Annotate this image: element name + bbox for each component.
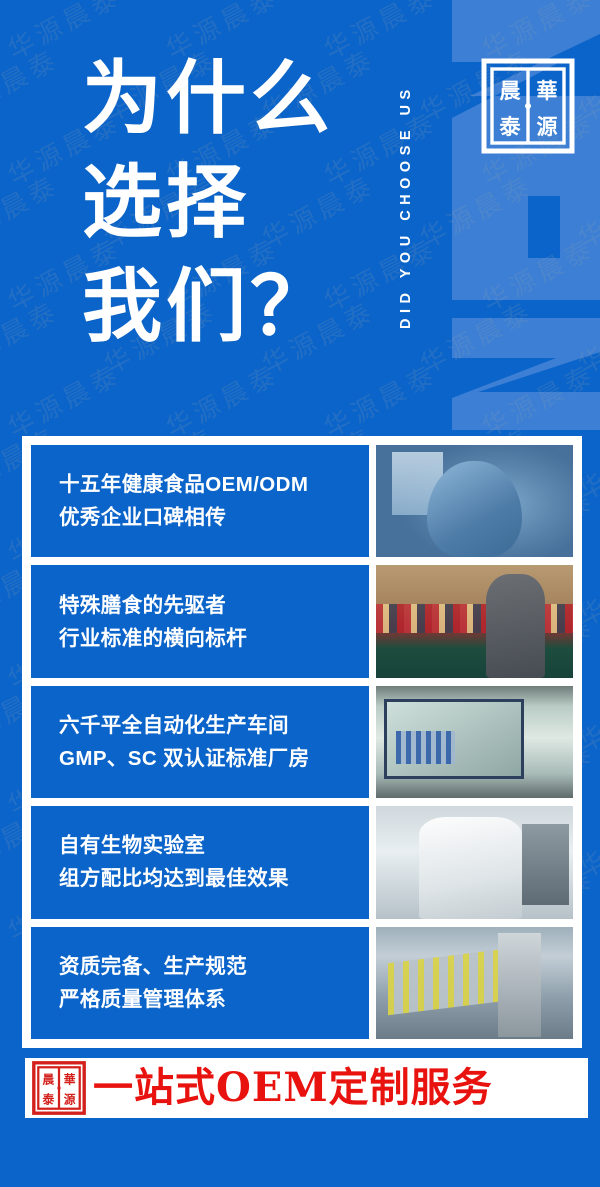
conference-audience-photo [376, 565, 573, 677]
svg-text:泰: 泰 [41, 1093, 54, 1107]
feature-card-text: 十五年健康食品OEM/ODM 优秀企业口碑相传 [31, 445, 369, 557]
seal-stamp-icon: 晨 泰 華 源 [478, 54, 578, 158]
poster-root: 为什么 选择 我们？ DID YOU CHOOSE US 晨 泰 華 源 [0, 0, 600, 1187]
feature-line-2: GMP、SC 双认证标准厂房 [59, 742, 369, 775]
svg-text:華: 華 [537, 78, 558, 103]
feature-line-2: 严格质量管理体系 [59, 983, 369, 1016]
feature-line-1: 六千平全自动化生产车间 [59, 709, 369, 742]
page-title: 为什么 选择 我们？ [82, 46, 334, 358]
feature-card-text: 六千平全自动化生产车间 GMP、SC 双认证标准厂房 [31, 686, 369, 798]
features-panel: 十五年健康食品OEM/ODM 优秀企业口碑相传 特殊膳食的先驱者 行业标准的横向… [22, 436, 582, 1048]
feature-line-2: 行业标准的横向标杆 [59, 622, 369, 655]
feature-line-1: 资质完备、生产规范 [59, 950, 369, 983]
banner-slogan: 一站式OEM定制服务 [93, 1068, 493, 1108]
title-line-2: 选择 [82, 150, 334, 254]
feature-line-1: 自有生物实验室 [59, 829, 369, 862]
feature-line-2: 优秀企业口碑相传 [59, 501, 369, 534]
tablet-packaging-machine-photo [376, 927, 573, 1039]
bottom-banner: 晨 泰 華 源 一站式OEM定制服务 [25, 1058, 588, 1118]
feature-card-text: 资质完备、生产规范 严格质量管理体系 [31, 927, 369, 1039]
feature-card: 十五年健康食品OEM/ODM 优秀企业口碑相传 [31, 445, 573, 557]
seal-stamp-icon: 晨 泰 華 源 [31, 1060, 87, 1116]
feature-card-text: 自有生物实验室 组方配比均达到最佳效果 [31, 806, 369, 918]
svg-text:源: 源 [537, 114, 558, 139]
svg-text:晨: 晨 [500, 78, 522, 103]
svg-text:晨: 晨 [42, 1073, 54, 1087]
feature-card-text: 特殊膳食的先驱者 行业标准的横向标杆 [31, 565, 369, 677]
header: 为什么 选择 我们？ DID YOU CHOOSE US 晨 泰 華 源 [0, 0, 600, 435]
svg-text:源: 源 [63, 1093, 76, 1107]
title-line-3: 我们？ [82, 254, 334, 358]
feature-card: 特殊膳食的先驱者 行业标准的横向标杆 [31, 565, 573, 677]
svg-text:泰: 泰 [499, 114, 522, 139]
feature-line-1: 十五年健康食品OEM/ODM [59, 468, 369, 501]
feature-card: 资质完备、生产规范 严格质量管理体系 [31, 927, 573, 1039]
feature-line-2: 组方配比均达到最佳效果 [59, 862, 369, 895]
feature-card: 自有生物实验室 组方配比均达到最佳效果 [31, 806, 573, 918]
lab-technician-photo [376, 445, 573, 557]
title-line-1: 为什么 [82, 46, 334, 150]
clean-room-corridor-photo [376, 686, 573, 798]
production-line-staff-photo [376, 806, 573, 918]
feature-card: 六千平全自动化生产车间 GMP、SC 双认证标准厂房 [31, 686, 573, 798]
feature-line-1: 特殊膳食的先驱者 [59, 589, 369, 622]
svg-text:華: 華 [64, 1073, 76, 1087]
vertical-tagline: DID YOU CHOOSE US [398, 18, 432, 396]
